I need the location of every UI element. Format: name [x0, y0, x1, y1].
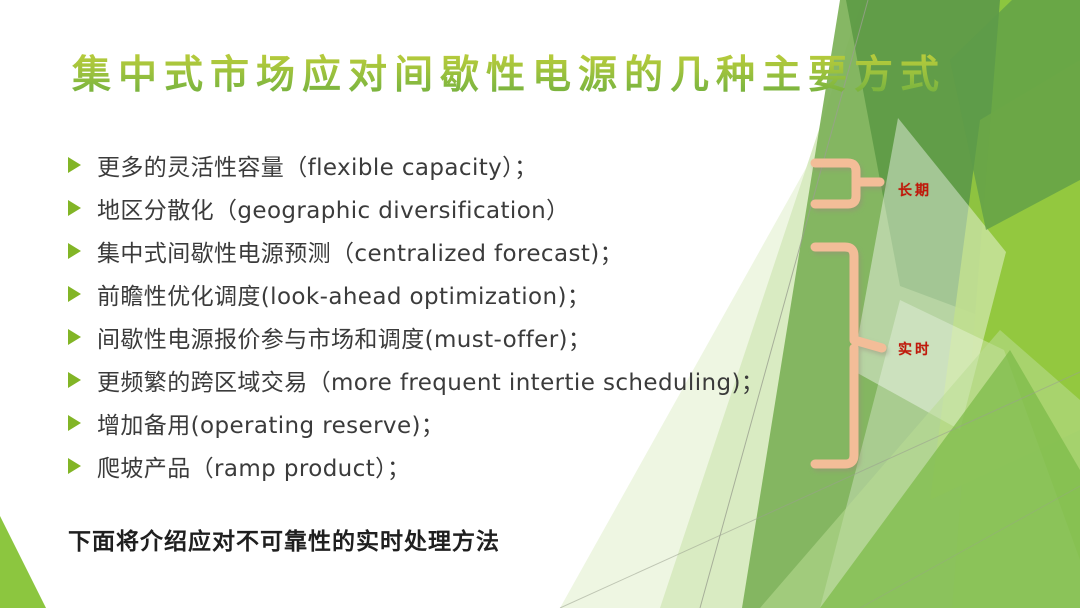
presentation-slide: 集中式市场应对间歇性电源的几种主要方式 更多的灵活性容量（flexible ca…: [0, 0, 1080, 608]
deco-shape-bottom-left: [0, 516, 46, 608]
triangle-right-icon: [68, 372, 81, 388]
deco-shape-bright-right: [952, 0, 1080, 608]
bullet-list: 更多的灵活性容量（flexible capacity）； 地区分散化（geogr…: [68, 148, 828, 492]
triangle-right-icon: [68, 415, 81, 431]
list-item-label: 爬坡产品（ramp product）；: [97, 449, 828, 483]
deco-shape-overlay-lower: [820, 300, 1080, 608]
list-item-label: 增加备用(operating reserve)；: [97, 406, 828, 440]
list-item-label: 更频繁的跨区域交易（more frequent intertie schedul…: [97, 363, 828, 397]
deco-hairline-3: [860, 486, 1080, 608]
triangle-right-icon: [68, 200, 81, 216]
triangle-right-icon: [68, 157, 81, 173]
list-item-label: 地区分散化（geographic diversification）: [97, 191, 828, 225]
list-item[interactable]: 爬坡产品（ramp product）；: [68, 449, 828, 492]
list-item[interactable]: 地区分散化（geographic diversification）: [68, 191, 828, 234]
slide-title: 集中式市场应对间歇性电源的几种主要方式: [72, 44, 946, 100]
list-item-label: 更多的灵活性容量（flexible capacity）；: [97, 148, 828, 182]
list-item[interactable]: 集中式间歇性电源预测（centralized forecast)；: [68, 234, 828, 277]
annotation-label-real-time: 实时: [898, 339, 932, 359]
list-item[interactable]: 更多的灵活性容量（flexible capacity）；: [68, 148, 828, 191]
list-item-label: 集中式间歇性电源预测（centralized forecast)；: [97, 234, 828, 268]
list-item[interactable]: 前瞻性优化调度(look-ahead optimization)；: [68, 277, 828, 320]
list-item[interactable]: 间歇性电源报价参与市场和调度(must-offer)；: [68, 320, 828, 363]
list-item-label: 前瞻性优化调度(look-ahead optimization)；: [97, 277, 828, 311]
footer-note: 下面将介绍应对不可靠性的实时处理方法: [68, 522, 500, 556]
deco-shape-dark-accent: [950, 0, 1080, 230]
triangle-right-icon: [68, 329, 81, 345]
list-item[interactable]: 更频繁的跨区域交易（more frequent intertie schedul…: [68, 363, 828, 406]
triangle-right-icon: [68, 243, 81, 259]
deco-shape-overlay-upper: [852, 118, 1006, 430]
triangle-right-icon: [68, 286, 81, 302]
triangle-right-icon: [68, 458, 81, 474]
deco-shape-bright-mid: [930, 60, 1080, 500]
list-item-label: 间歇性电源报价参与市场和调度(must-offer)；: [97, 320, 828, 354]
annotation-label-long-term: 长期: [898, 180, 932, 200]
list-item[interactable]: 增加备用(operating reserve)；: [68, 406, 828, 449]
deco-shape-lower-left-wedge: [820, 350, 1080, 608]
